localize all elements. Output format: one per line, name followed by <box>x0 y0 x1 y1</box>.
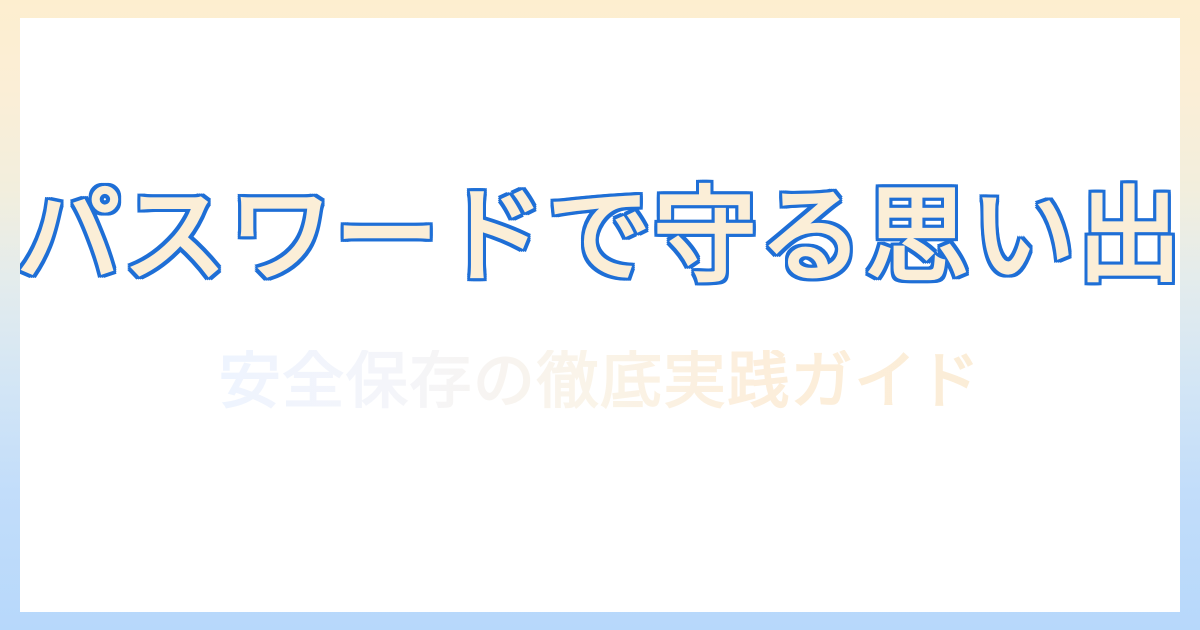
content-stage: パスワードで守る思い出 安全保存の徹底実践ガイド 安全保存の徹底実践ガイド <box>20 18 1180 612</box>
headline-wrapper: パスワードで守る思い出 <box>20 184 1180 288</box>
page-title: パスワードで守る思い出 <box>20 184 1180 288</box>
og-card: パスワードで守る思い出 安全保存の徹底実践ガイド 安全保存の徹底実践ガイド <box>0 0 1200 630</box>
page-subtitle: 安全保存の徹底実践ガイド <box>219 350 982 412</box>
text-stack: パスワードで守る思い出 安全保存の徹底実践ガイド 安全保存の徹底実践ガイド <box>20 18 1180 612</box>
subheadline-wrapper: 安全保存の徹底実践ガイド 安全保存の徹底実践ガイド <box>219 350 982 412</box>
